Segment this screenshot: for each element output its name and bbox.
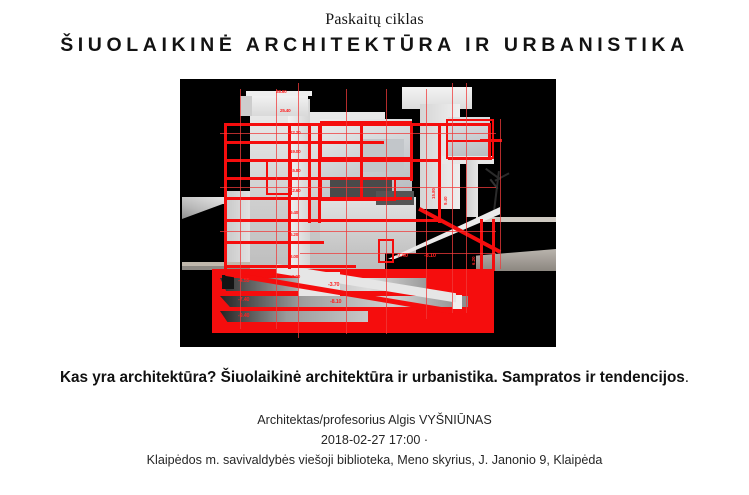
- red-grid-horizontal-3: [220, 231, 496, 232]
- red-column-core-right: [308, 123, 311, 223]
- elevation-label-7: 6.20: [290, 233, 298, 238]
- red-frame-right-cantilever: [446, 119, 494, 159]
- elevation-label-right-2: -7.40: [396, 254, 408, 260]
- red-grid-vertical-5: [386, 89, 387, 334]
- caption-trailing-dot: .: [685, 369, 689, 386]
- elevation-label-14: -3.70: [328, 283, 339, 288]
- red-grid-vertical-8: [466, 83, 467, 313]
- building-section-image: 28.60 25.40 22.20 19.00 15.80 12.60 9.40…: [180, 79, 556, 347]
- poster-headline: ŠIUOLAIKINĖ ARCHITEKTŪRA IR URBANISTIKA: [0, 34, 749, 57]
- mass-roof-slab-left: [240, 96, 252, 116]
- red-grid-vertical-4: [346, 89, 347, 334]
- venue-line: Klaipėdos m. savivaldybės viešoji biblio…: [0, 450, 749, 470]
- elevation-label-6: 9.40: [290, 211, 298, 216]
- elevation-label-vertical-2: 9.40: [444, 196, 448, 205]
- elevation-label-vertical-1: 15.80: [432, 188, 436, 199]
- red-grid-vertical-6: [426, 89, 427, 319]
- event-details: Architektas/profesorius Algis VYŠNIŪNAS …: [0, 410, 749, 470]
- caption-text: Kas yra architektūra? Šiuolaikinė archit…: [60, 369, 685, 386]
- red-line-level-5: [224, 197, 320, 200]
- elevation-label-12: -8.10: [330, 300, 341, 305]
- lecture-title-caption: Kas yra architektūra? Šiuolaikinė archit…: [0, 369, 749, 387]
- red-frame-upper-left-block: [266, 159, 292, 195]
- red-grid-horizontal-2: [220, 187, 496, 188]
- mass-upper-penthouse: [250, 94, 308, 116]
- elevation-label-5: 12.60: [290, 189, 301, 194]
- speaker-line: Architektas/profesorius Algis VYŠNIŪNAS: [0, 410, 749, 430]
- red-line-level-3: [224, 241, 324, 244]
- red-column-right-lower: [480, 219, 483, 273]
- red-grid-vertical-7: [452, 83, 453, 313]
- red-frame-central-lower: [320, 177, 396, 201]
- elevation-label-vertical-3: 6.20: [472, 256, 476, 265]
- elevation-label-right: -8.10: [424, 254, 436, 260]
- elevation-label-4: 15.80: [290, 169, 301, 174]
- red-column-left-edge: [224, 123, 227, 269]
- figure-canvas: 28.60 25.40 22.20 19.00 15.80 12.60 9.40…: [180, 79, 556, 347]
- elevation-label-11: -7.40: [238, 298, 249, 303]
- mass-right-column: [466, 159, 478, 217]
- red-line-level-4: [224, 219, 440, 222]
- poster-kicker: Paskaitų ciklas: [0, 11, 749, 29]
- elevation-label-10: -4.55: [238, 279, 249, 284]
- elevation-label-3: 19.00: [290, 150, 301, 155]
- elevation-label-2: 22.20: [290, 131, 301, 136]
- red-column-right: [438, 123, 441, 223]
- mass-left-wall: [226, 191, 252, 269]
- elevation-label-9: 0.00: [292, 275, 300, 280]
- red-grid-horizontal-1: [220, 133, 496, 134]
- elevation-label-13: -9.40: [238, 314, 249, 319]
- red-column-core-left: [288, 123, 291, 269]
- datetime-line: 2018-02-27 17:00 ·: [0, 430, 749, 450]
- red-grid-vertical-9: [500, 119, 501, 269]
- red-basement-band-base: [212, 323, 494, 333]
- red-grid-vertical-2: [276, 89, 277, 329]
- mass-central-lower-block: [320, 197, 416, 253]
- elevation-label-0: 28.60: [276, 90, 287, 95]
- red-frame-central-upper: [320, 121, 412, 159]
- elevation-label-8: 3.00: [290, 255, 298, 260]
- lecture-poster: Paskaitų ciklas ŠIUOLAIKINĖ ARCHITEKTŪRA…: [0, 0, 749, 495]
- elevation-label-1: 25.40: [280, 109, 291, 114]
- mass-left-canopy-slope: [182, 197, 226, 219]
- red-grid-vertical-1: [240, 89, 241, 329]
